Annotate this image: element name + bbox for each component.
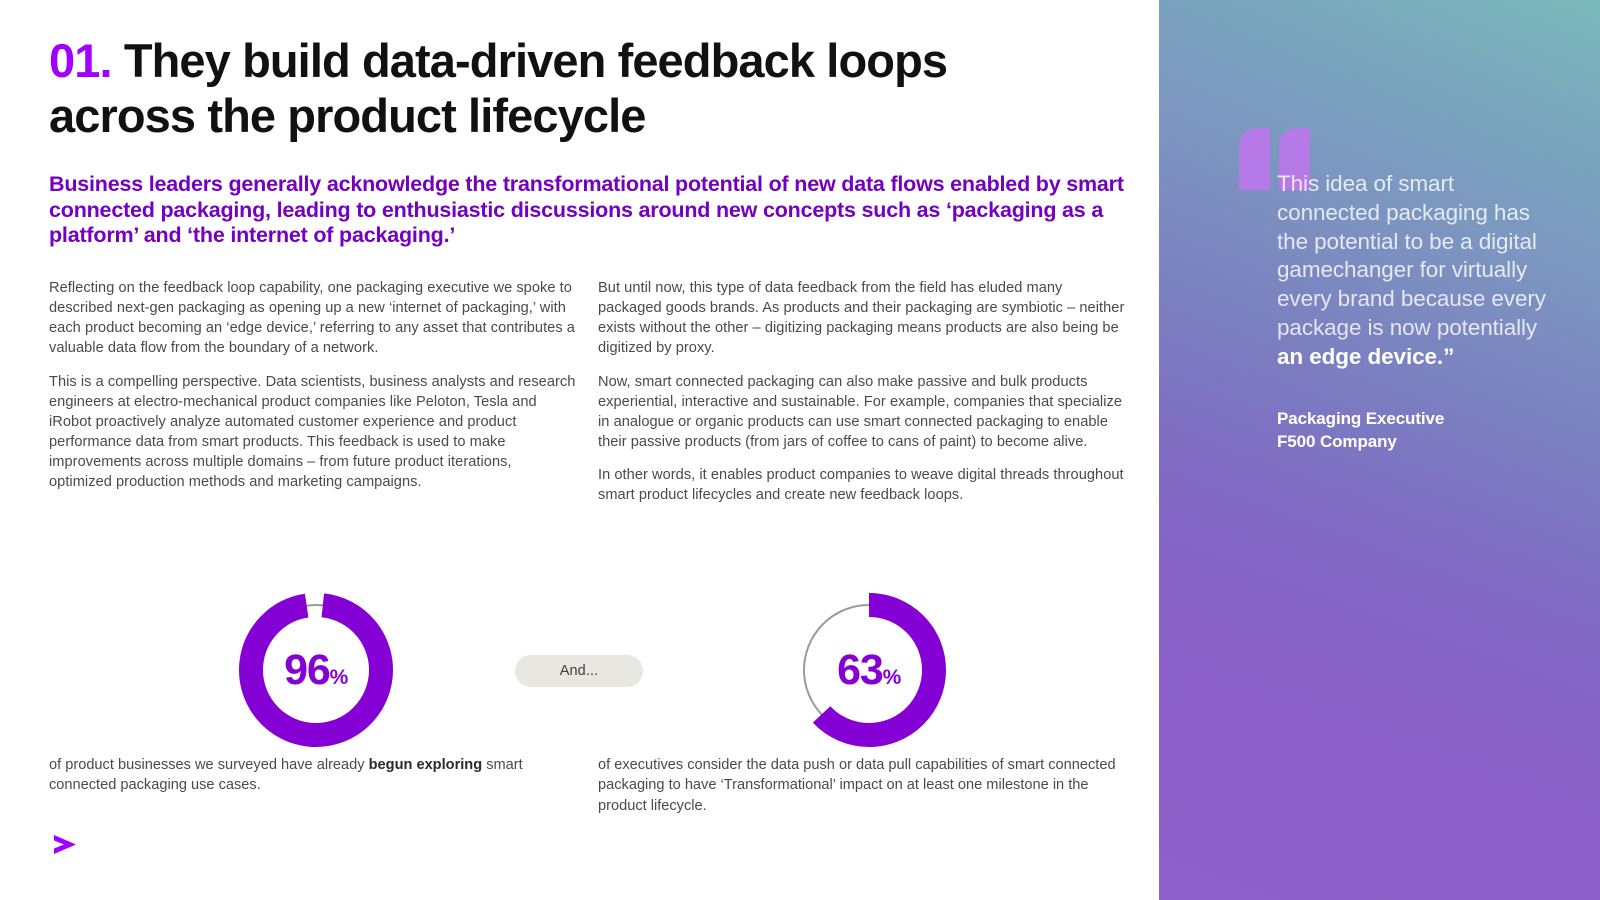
caption-emphasis: begun exploring — [369, 757, 483, 773]
donut-center-label: 96% — [236, 590, 396, 750]
quote-attribution: Packaging Executive F500 Company — [1277, 408, 1557, 453]
section-number: 01. — [49, 34, 112, 87]
main-content: 01. They build data-driven feedback loop… — [49, 0, 1139, 900]
slide-root: 01. They build data-driven feedback loop… — [0, 0, 1600, 900]
donut-center-label: 63% — [789, 590, 949, 750]
and-connector-pill: And... — [515, 655, 643, 687]
subheadline: Business leaders generally acknowledge t… — [49, 172, 1124, 249]
stat-caption-96: of product businesses we surveyed have a… — [49, 755, 569, 796]
quote-text-plain: This idea of smart connected packaging h… — [1277, 171, 1546, 340]
quote-panel-inner: This idea of smart connected packaging h… — [1239, 0, 1539, 900]
paragraph: This is a compelling perspective. Data s… — [49, 372, 576, 493]
paragraph: But until now, this type of data feedbac… — [598, 278, 1125, 359]
body-column-left: Reflecting on the feedback loop capabili… — [49, 278, 576, 492]
headline-text: They build data-driven feedback loops ac… — [49, 34, 947, 142]
paragraph: Reflecting on the feedback loop capabili… — [49, 278, 576, 359]
stats-row: 96% And... 63% — [49, 590, 1124, 765]
caption-part: of product businesses we surveyed have a… — [49, 757, 369, 773]
donut-chart-96: 96% — [236, 590, 396, 750]
caption-part: of executives consider the data push or … — [598, 757, 1116, 814]
and-connector-label: And... — [560, 663, 599, 679]
donut-unit: % — [330, 667, 348, 688]
body-column-right: But until now, this type of data feedbac… — [598, 278, 1125, 505]
stat-caption-63: of executives consider the data push or … — [598, 755, 1123, 816]
paragraph: In other words, it enables product compa… — [598, 465, 1125, 505]
attribution-role: Packaging Executive — [1277, 408, 1557, 431]
donut-chart-63: 63% — [789, 590, 949, 750]
donut-value: 63 — [837, 649, 882, 692]
quote-panel: This idea of smart connected packaging h… — [1159, 0, 1600, 900]
attribution-company: F500 Company — [1277, 431, 1557, 454]
donut-value: 96 — [284, 649, 329, 692]
chevron-right-icon — [49, 828, 83, 862]
accenture-chevron-logo-icon — [49, 828, 83, 862]
quote-text: This idea of smart connected packaging h… — [1277, 170, 1547, 372]
page-title: 01. They build data-driven feedback loop… — [49, 33, 1059, 144]
donut-unit: % — [883, 667, 901, 688]
quote-text-emphasis: an edge device.” — [1277, 344, 1454, 369]
paragraph: Now, smart connected packaging can also … — [598, 372, 1125, 453]
